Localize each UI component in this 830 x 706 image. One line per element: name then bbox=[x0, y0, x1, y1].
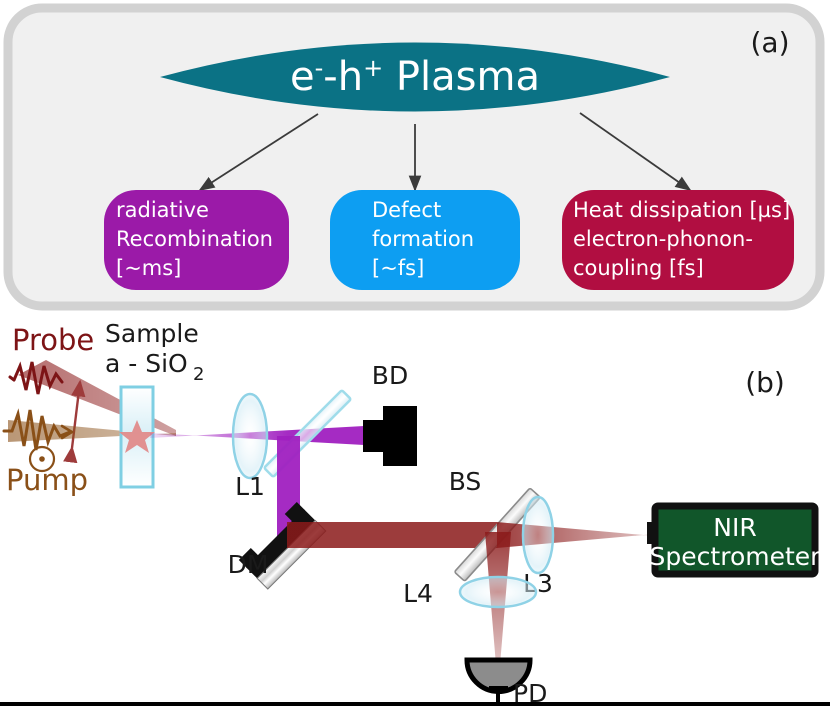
plasma-label: e--h+ Plasma bbox=[290, 54, 540, 100]
panel-a-label: (a) bbox=[750, 26, 789, 59]
beam-dump bbox=[363, 406, 417, 466]
panel-a: (a) e--h+ Plasma radiative Recombination… bbox=[0, 0, 830, 320]
nir-beam-horizontal bbox=[287, 522, 497, 548]
outcome-radiative-line-2: Recombination bbox=[116, 227, 273, 251]
sample-label-line2: a - SiO 2 bbox=[105, 349, 204, 385]
outcome-defect-line-2: formation bbox=[372, 227, 474, 251]
lens-l1-label: L1 bbox=[235, 472, 265, 501]
pd-label: PD bbox=[513, 679, 547, 706]
plasma-label-sup-minus: - bbox=[315, 54, 324, 82]
outcome-radiative-line-3: [~ms] bbox=[116, 256, 181, 280]
panel-b-label: (b) bbox=[745, 366, 785, 399]
outcome-box-defect[interactable]: Defect formation [~fs] bbox=[330, 190, 520, 290]
outcome-defect-line-3: [~fs] bbox=[372, 256, 424, 280]
lens-l4 bbox=[460, 577, 536, 607]
lens-l1 bbox=[233, 394, 267, 478]
outcome-heat-line-3: coupling [fs] bbox=[573, 256, 704, 280]
outcome-heat-line-1: Heat dissipation [µs] bbox=[573, 198, 790, 222]
spectrometer-label-line2: Spectrometer bbox=[650, 542, 822, 571]
plasma-label-e: e bbox=[290, 54, 315, 100]
spectrometer-label-line1: NIR bbox=[713, 513, 756, 542]
outcome-radiative-line-1: radiative bbox=[116, 198, 209, 222]
pump-label: Pump bbox=[6, 463, 88, 497]
plasma-label-group: e--h+ Plasma bbox=[290, 54, 540, 100]
bs-label: BS bbox=[449, 467, 482, 496]
plasma-label-h: -h bbox=[323, 54, 363, 100]
outcome-heat-line-2: electron-phonon- bbox=[573, 227, 753, 251]
bd-label: BD bbox=[372, 361, 408, 390]
lens-l4-label: L4 bbox=[403, 579, 433, 608]
nir-spectrometer[interactable]: NIR Spectrometer bbox=[647, 506, 821, 574]
probe-label: Probe bbox=[12, 323, 94, 357]
panel-b: (b) Probe Pump bbox=[0, 320, 830, 706]
nir-beam-to-spectrometer bbox=[497, 522, 655, 548]
dm-label: DM bbox=[228, 550, 269, 579]
sample-label-subscript: 2 bbox=[193, 364, 204, 385]
emission-beam-horizontal bbox=[150, 424, 400, 447]
outcome-defect-line-1: Defect bbox=[372, 198, 441, 222]
outcome-box-heat[interactable]: Heat dissipation [µs] electron-phonon- c… bbox=[562, 190, 794, 290]
plasma-label-tail: Plasma bbox=[383, 54, 540, 100]
plasma-label-sup-plus: + bbox=[363, 54, 383, 82]
figure-root: (a) e--h+ Plasma radiative Recombination… bbox=[0, 0, 830, 706]
lens-l3 bbox=[523, 497, 553, 573]
outcome-box-radiative[interactable]: radiative Recombination [~ms] bbox=[104, 190, 289, 290]
sample-label-formula: a - SiO bbox=[105, 349, 188, 378]
sample-label-line1: Sample bbox=[105, 320, 199, 348]
